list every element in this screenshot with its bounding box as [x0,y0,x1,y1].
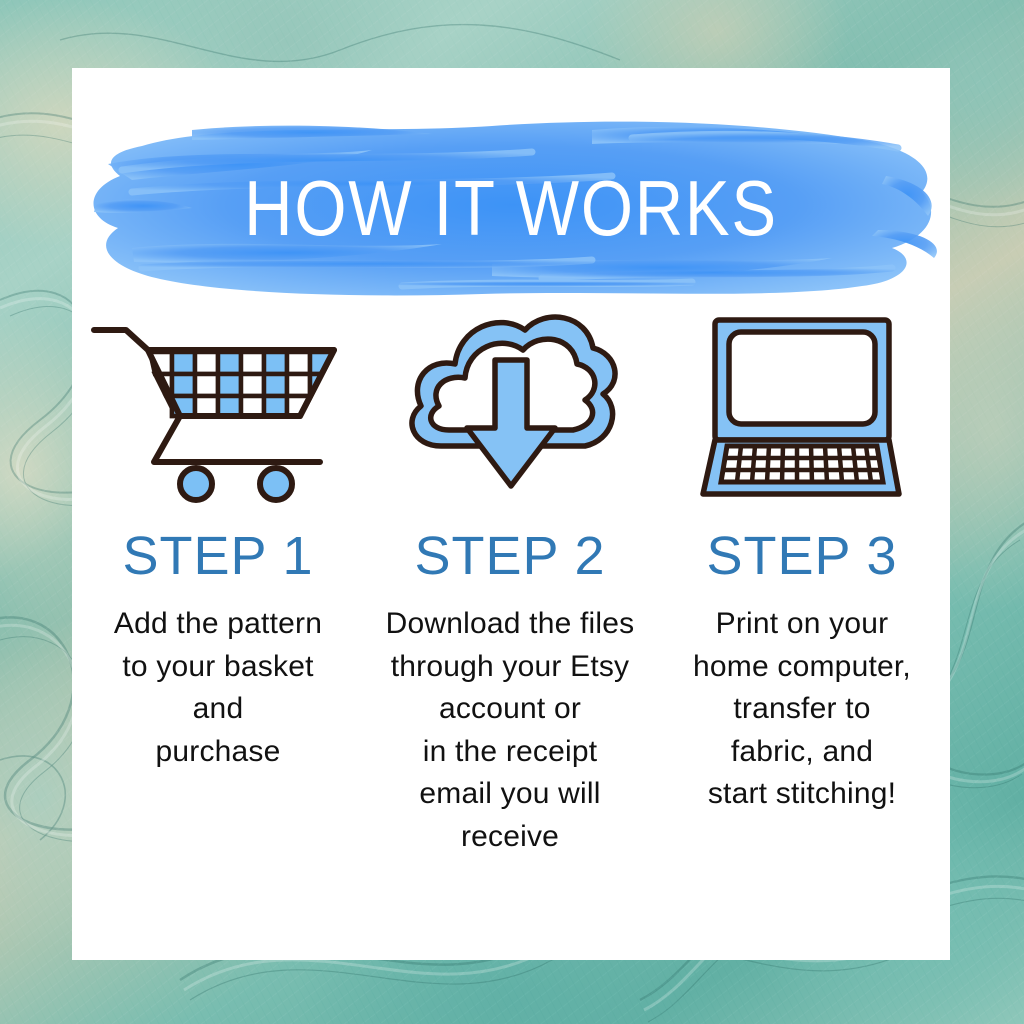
step-1-icon-box [88,298,348,513]
step-column-1: STEP 1 Add the pattern to your basket an… [72,298,364,859]
cart-wheel-left [180,468,212,500]
step-2-label: STEP 2 [414,529,605,583]
step-2-body: Download the files through your Etsy acc… [379,603,641,859]
step-column-3: STEP 3 Print on your home computer, tran… [656,298,948,859]
content-card: HOW IT WORKS [72,68,950,960]
step-1-body: Add the pattern to your basket and purch… [84,603,352,773]
step-1-label: STEP 1 [122,529,313,583]
title-banner: HOW IT WORKS [72,118,950,298]
laptop-screen [729,332,875,424]
cloud-download-icon [395,306,625,506]
step-2-icon-box [395,298,625,513]
page-title: HOW IT WORKS [133,118,888,298]
step-column-2: STEP 2 Download the files through your E… [364,298,656,859]
cart-wheel-right [260,468,292,500]
shopping-cart-icon [88,306,348,506]
step-3-label: STEP 3 [706,529,897,583]
steps-row: STEP 1 Add the pattern to your basket an… [72,298,950,859]
step-3-icon-box [677,298,927,513]
laptop-icon [677,306,927,506]
step-3-body: Print on your home computer, transfer to… [668,603,936,816]
